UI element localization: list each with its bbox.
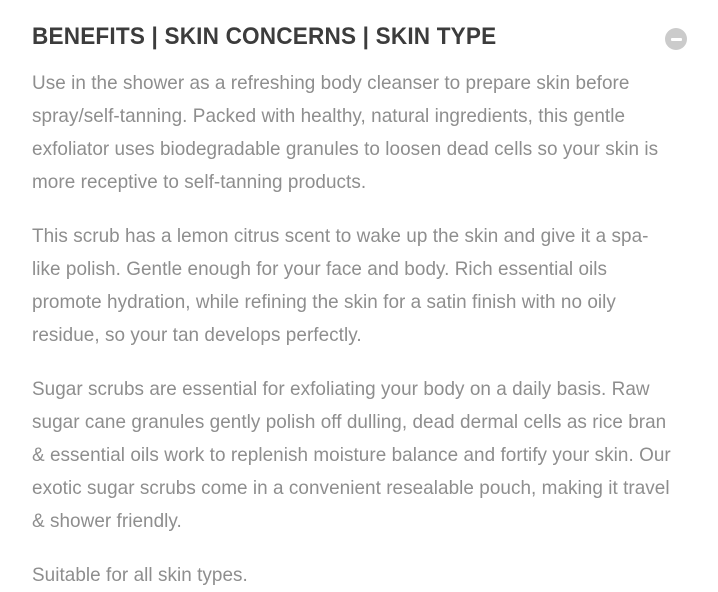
description-paragraph: Suitable for all skin types. — [32, 559, 672, 592]
accordion-header[interactable]: BENEFITS | SKIN CONCERNS | SKIN TYPE — [0, 0, 718, 52]
accordion-body: Use in the shower as a refreshing body c… — [0, 67, 718, 592]
accordion-title: BENEFITS | SKIN CONCERNS | SKIN TYPE — [32, 22, 496, 52]
minus-circle-icon[interactable] — [665, 28, 687, 50]
description-paragraph: Sugar scrubs are essential for exfoliati… — [32, 373, 672, 538]
minus-bar — [671, 38, 682, 41]
description-paragraph: This scrub has a lemon citrus scent to w… — [32, 220, 672, 352]
description-paragraph: Use in the shower as a refreshing body c… — [32, 67, 672, 199]
product-description-accordion: BENEFITS | SKIN CONCERNS | SKIN TYPE Use… — [0, 0, 718, 558]
